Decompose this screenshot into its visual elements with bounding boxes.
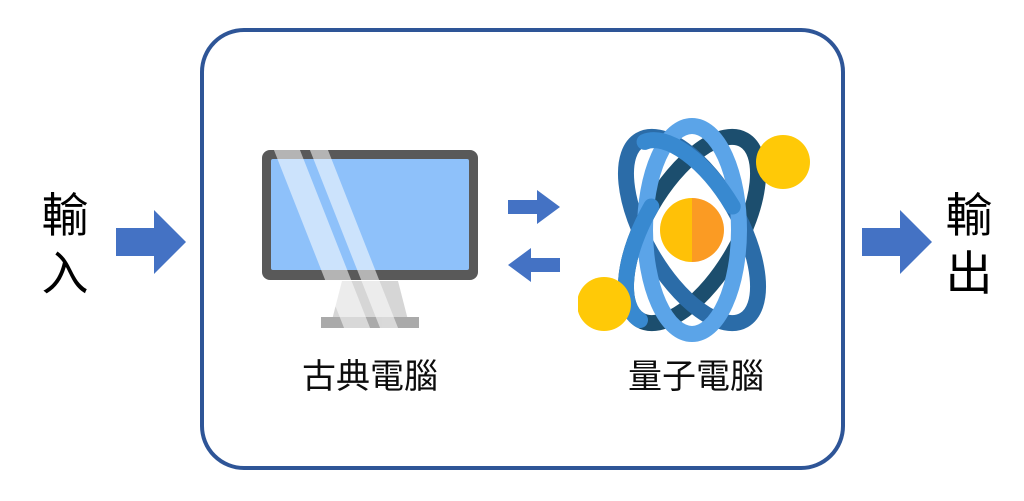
- quantum-to-classical-arrow: [508, 248, 560, 282]
- classical-computer-caption: 古典電腦: [250, 355, 490, 399]
- output-arrow: [862, 209, 932, 275]
- atom-icon: [578, 118, 814, 342]
- desktop-monitor-icon: [262, 150, 478, 342]
- input-arrow: [116, 209, 186, 275]
- classical-to-quantum-arrow: [508, 190, 560, 224]
- input-label: 輸 入: [22, 187, 108, 303]
- quantum-computer-caption: 量子電腦: [576, 355, 816, 399]
- output-label: 輸 出: [926, 187, 1012, 303]
- diagram-canvas: 輸 入: [0, 0, 1024, 501]
